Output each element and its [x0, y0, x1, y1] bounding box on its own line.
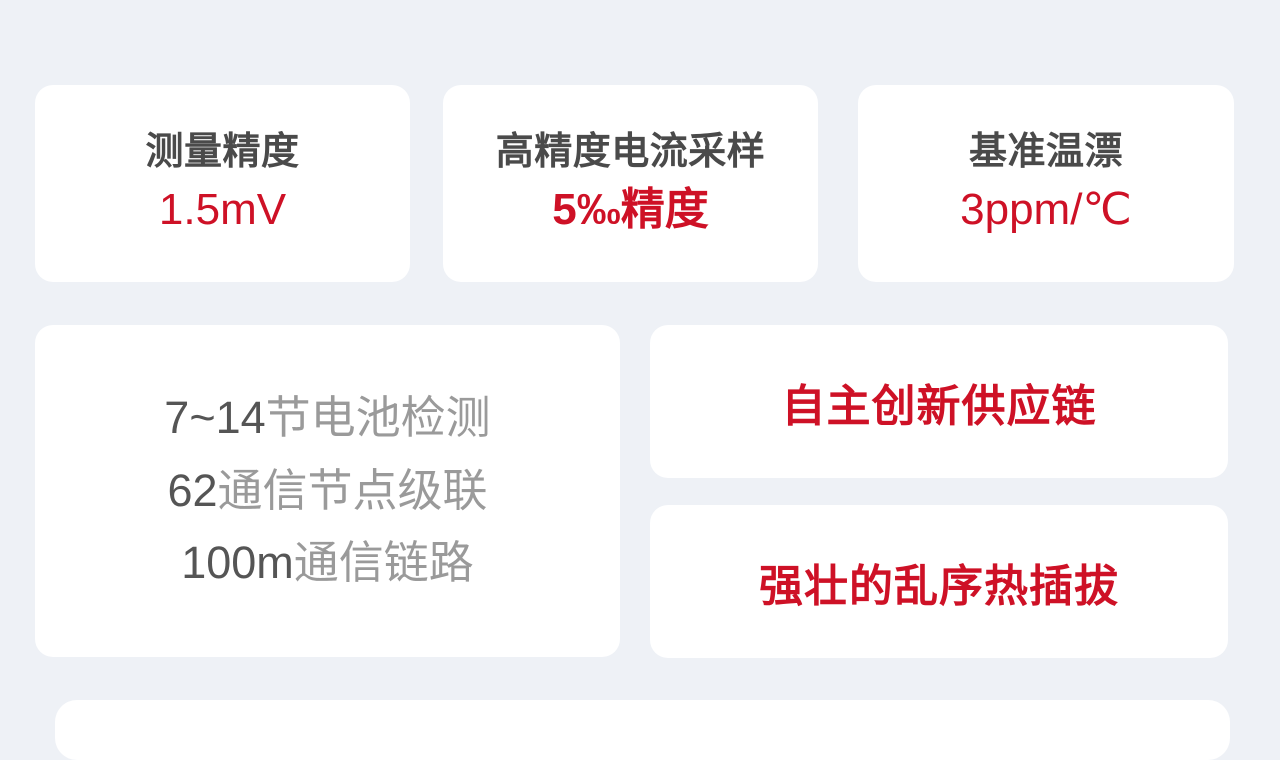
stat-card-current-sampling[interactable]: 高精度电流采样 5‰精度 — [443, 85, 818, 282]
stat-card-reference-temperature-drift[interactable]: 基准温漂 3ppm/℃ — [858, 85, 1234, 282]
spec-line-label: 通信节点级联 — [218, 465, 488, 516]
stat-card-measurement-accuracy[interactable]: 测量精度 1.5mV — [35, 85, 410, 282]
highlight-card-supply-chain[interactable]: 自主创新供应链 — [650, 325, 1228, 478]
stat-card-value: 3ppm/℃ — [960, 181, 1132, 238]
stat-card-value: 1.5mV — [159, 181, 286, 238]
highlight-card-hot-swap[interactable]: 强壮的乱序热插拔 — [650, 505, 1228, 658]
spec-line-label: 节电池检测 — [266, 392, 491, 443]
stat-card-title: 测量精度 — [145, 129, 299, 177]
feature-spec-page: 测量精度 1.5mV 高精度电流采样 5‰精度 基准温漂 3ppm/℃ 7~14… — [0, 0, 1280, 720]
stat-card-value: 5‰精度 — [552, 181, 708, 238]
spec-line: 100m通信链路 — [181, 527, 474, 600]
spec-line-label: 通信链路 — [294, 537, 474, 588]
stat-card-title: 高精度电流采样 — [496, 129, 766, 177]
stat-card-title: 基准温漂 — [969, 129, 1123, 177]
highlight-card-text: 自主创新供应链 — [782, 370, 1097, 434]
spec-line: 7~14节电池检测 — [164, 382, 490, 455]
spec-line: 62通信节点级联 — [167, 455, 487, 528]
spec-list-card[interactable]: 7~14节电池检测 62通信节点级联 100m通信链路 — [35, 325, 620, 657]
spec-line-number: 7~14 — [164, 392, 265, 443]
highlight-card-text: 强壮的乱序热插拔 — [759, 550, 1119, 614]
spec-line-number: 62 — [167, 465, 217, 516]
bottom-card-partial[interactable] — [55, 700, 1230, 760]
spec-line-number: 100m — [181, 537, 294, 588]
